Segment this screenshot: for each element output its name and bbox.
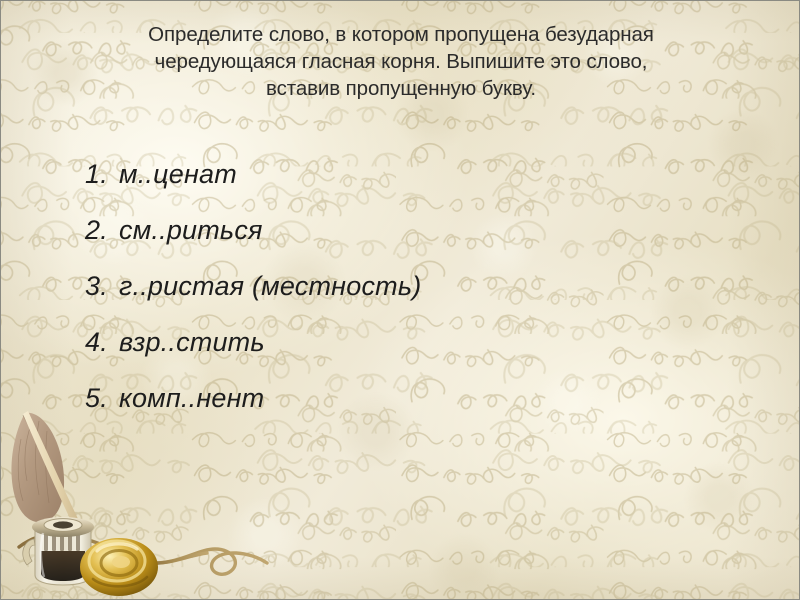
page-title: Определите слово, в котором пропущена бе… bbox=[57, 21, 745, 102]
list-item-number: 4. bbox=[85, 314, 119, 370]
title-line-2: чередующаяся гласная корня. Выпишите это… bbox=[57, 48, 745, 75]
list-item-number: 1. bbox=[85, 146, 119, 202]
list-item-label: г..ристая (местность) bbox=[119, 258, 421, 314]
list-item[interactable]: 3. г..ристая (местность) bbox=[85, 258, 725, 314]
list-item-number: 5. bbox=[85, 370, 119, 426]
list-item-label: м..ценат bbox=[119, 146, 237, 202]
list-item[interactable]: 2. см..риться bbox=[85, 202, 725, 258]
list-item-label: комп..нент bbox=[119, 370, 264, 426]
list-item[interactable]: 1. м..ценат bbox=[85, 146, 725, 202]
slide: Определите слово, в котором пропущена бе… bbox=[0, 0, 800, 600]
list-item[interactable]: 4. взр..стить bbox=[85, 314, 725, 370]
list-item-number: 3. bbox=[85, 258, 119, 314]
list-item-label: см..риться bbox=[119, 202, 263, 258]
list-item[interactable]: 5. комп..нент bbox=[85, 370, 725, 426]
list-item-label: взр..стить bbox=[119, 314, 265, 370]
title-line-3: вставив пропущенную букву. bbox=[57, 75, 745, 102]
slide-content: Определите слово, в котором пропущена бе… bbox=[1, 1, 799, 599]
title-line-1: Определите слово, в котором пропущена бе… bbox=[57, 21, 745, 48]
list-item-number: 2. bbox=[85, 202, 119, 258]
answer-options-list: 1. м..ценат 2. см..риться 3. г..ристая (… bbox=[85, 146, 725, 426]
